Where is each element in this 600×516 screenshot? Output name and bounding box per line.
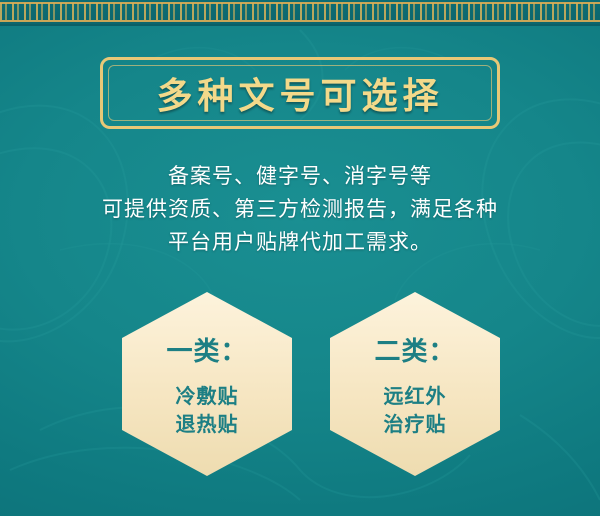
category-one-item-1: 冷敷贴 (176, 382, 239, 410)
description-line-1: 备案号、健字号、消字号等 (30, 160, 570, 193)
description-line-2: 可提供资质、第三方检测报告，满足各种 (30, 193, 570, 226)
category-two-item-1: 远红外 (384, 382, 447, 410)
poster-canvas: 多种文号可选择 备案号、健字号、消字号等 可提供资质、第三方检测报告，满足各种 … (0, 0, 600, 516)
category-one-title: 一类： (166, 331, 247, 368)
category-one-item-2: 退热贴 (176, 410, 239, 438)
category-two-title: 二类： (374, 331, 455, 368)
description-block: 备案号、健字号、消字号等 可提供资质、第三方检测报告，满足各种 平台用户贴牌代加… (30, 160, 570, 259)
category-hexagon-two: 二类： 远红外 治疗贴 (330, 292, 500, 476)
page-title: 多种文号可选择 (156, 67, 443, 119)
border-pattern (0, 3, 600, 21)
border-band-bottom (0, 20, 600, 22)
title-plaque: 多种文号可选择 (100, 57, 500, 129)
description-line-3: 平台用户贴牌代加工需求。 (30, 226, 570, 259)
top-ornamental-border (0, 0, 600, 26)
category-hexagon-one: 一类： 冷敷贴 退热贴 (122, 292, 292, 476)
category-two-item-2: 治疗贴 (384, 410, 447, 438)
